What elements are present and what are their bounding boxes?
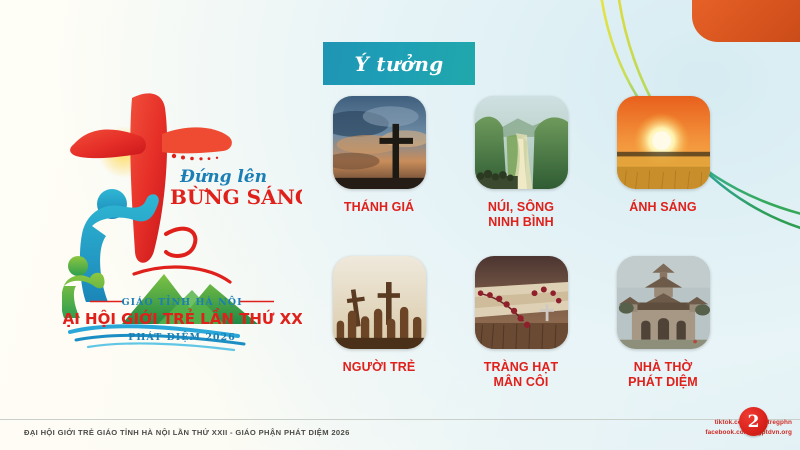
phat-diem-cathedral-photo [617, 256, 710, 349]
youth-raised-hands-crosses-photo [333, 256, 426, 349]
footer-caption: ĐẠI HỘI GIỚI TRẺ GIÁO TỈNH HÀ NỘI LẦN TH… [24, 428, 350, 437]
slide: Đứng lên BỪNG SÁNG ! GIÁO TỈNH HÀ NỘI ĐẠ… [0, 0, 800, 450]
section-banner: Ý tưởng [323, 42, 475, 85]
idea-card[interactable]: TRÀNG HẠT MÂN CÔI [468, 256, 574, 416]
section-banner-label: Ý tưởng [355, 52, 444, 76]
idea-card-label: ÁNH SÁNG [629, 200, 696, 215]
idea-card[interactable]: NÚI, SÔNG NINH BÌNH [468, 96, 574, 256]
logo-line-top: GIÁO TỈNH HÀ NỘI [121, 295, 242, 308]
idea-card-label: NGƯỜI TRẺ [343, 360, 416, 375]
ninh-binh-mountains-river-photo [475, 96, 568, 189]
page-number-badge: 2 [739, 407, 768, 436]
idea-card-label: TRÀNG HẠT MÂN CÔI [484, 360, 559, 391]
logo-line-bottom: PHÁT DIỆM 2026 [128, 331, 236, 343]
idea-grid: THÁNH GIÁ [326, 96, 716, 416]
logo-slogan-bold: BỪNG SÁNG ! [170, 184, 302, 209]
idea-card[interactable]: NHÀ THỜ PHÁT DIỆM [610, 256, 716, 416]
idea-card-label: THÁNH GIÁ [344, 200, 414, 215]
idea-card[interactable]: THÁNH GIÁ [326, 96, 432, 256]
cross-sunset-photo [333, 96, 426, 189]
orange-corner-accent [692, 0, 800, 42]
idea-card[interactable]: NGƯỜI TRẺ [326, 256, 432, 416]
event-logo: Đứng lên BỪNG SÁNG ! GIÁO TỈNH HÀ NỘI ĐẠ… [62, 86, 302, 354]
logo-slogan-script: Đứng lên [179, 167, 267, 187]
idea-card-label: NÚI, SÔNG NINH BÌNH [488, 200, 554, 231]
idea-card[interactable]: ÁNH SÁNG [610, 96, 716, 256]
idea-card-label: NHÀ THỜ PHÁT DIỆM [628, 360, 698, 391]
sunrise-light-photo [617, 96, 710, 189]
logo-line-main: ĐẠI HỘI GIỚI TRẺ LẦN THỨ XXII [62, 307, 302, 328]
rosary-beads-photo [475, 256, 568, 349]
footer-divider [0, 419, 800, 420]
